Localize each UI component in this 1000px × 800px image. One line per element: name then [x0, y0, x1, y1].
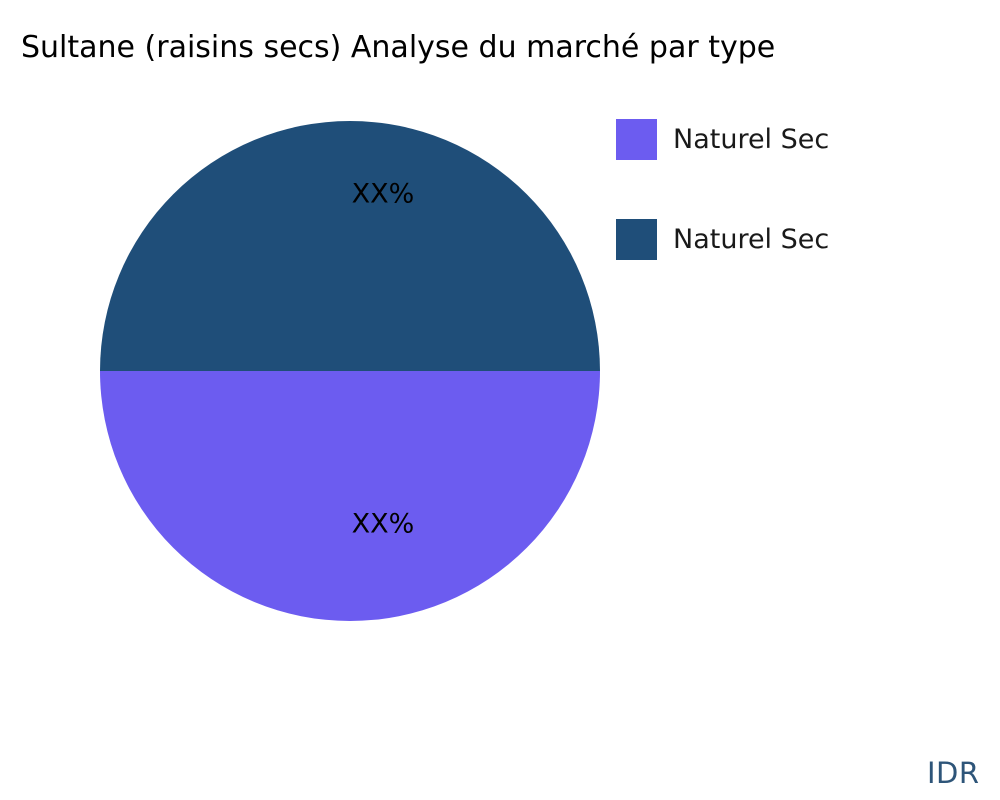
legend-item-label: Naturel Sec — [673, 225, 829, 255]
watermark-idr: IDR — [927, 757, 980, 789]
legend-item-label: Naturel Sec — [673, 125, 829, 155]
pie-chart-svg — [100, 121, 600, 621]
chart-canvas: Sultane (raisins secs) Analyse du marché… — [0, 0, 1000, 800]
legend-item-0[interactable]: Naturel Sec — [616, 119, 956, 160]
page-title: Sultane (raisins secs) Analyse du marché… — [21, 29, 775, 67]
pie-slice-naturel-sec-bottom[interactable] — [100, 371, 600, 621]
legend-item-1[interactable]: Naturel Sec — [616, 219, 956, 260]
legend-color-swatch-blue — [616, 219, 657, 260]
chart-legend: Naturel Sec Naturel Sec — [616, 119, 956, 319]
pie-slice-naturel-sec-top[interactable] — [100, 121, 600, 371]
pie-chart: XX% XX% — [100, 121, 600, 621]
legend-color-swatch-purple — [616, 119, 657, 160]
